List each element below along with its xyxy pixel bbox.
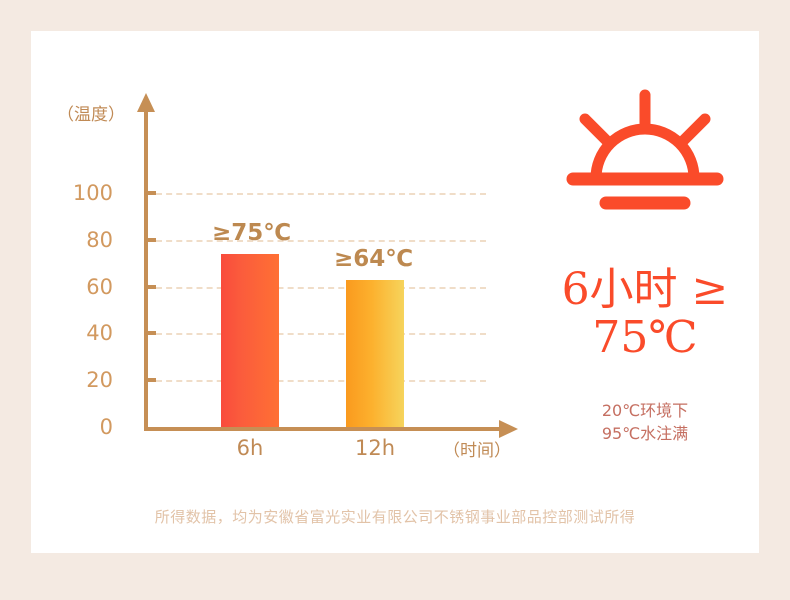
x-axis-line <box>144 427 502 431</box>
headline-line-1: 6小时 ≥ <box>531 266 759 314</box>
subnote: 20℃环境下 95℃水注满 <box>531 399 759 445</box>
bar-12h <box>346 280 404 427</box>
y-axis-tick-label-wrap: 0 <box>53 427 119 451</box>
headline-line-2: 75℃ <box>531 314 759 362</box>
content-panel: （温度） （时间） 020406080100 ≥75℃6h≥64℃12h <box>31 31 759 553</box>
sunrise-icon <box>559 89 731 216</box>
bar-6h <box>221 254 279 427</box>
subnote-line-1: 20℃环境下 <box>531 399 759 422</box>
bar-value-label: ≥75℃ <box>212 220 291 246</box>
x-axis-tick-label: 6h <box>210 436 290 460</box>
bar-chart: （温度） （时间） 020406080100 ≥75℃6h≥64℃12h <box>31 31 551 501</box>
subnote-line-2: 95℃水注满 <box>531 422 759 445</box>
x-axis-title: （时间） <box>443 436 511 461</box>
page-frame: （温度） （时间） 020406080100 ≥75℃6h≥64℃12h <box>0 0 790 600</box>
bar-value-label: ≥64℃ <box>334 246 413 272</box>
headline: 6小时 ≥ 75℃ <box>531 266 759 361</box>
source-caption: 所得数据，均为安徽省富光实业有限公司不锈钢事业部品控部测试所得 <box>31 506 759 527</box>
x-axis-tick-label: 12h <box>335 436 415 460</box>
right-panel: 6小时 ≥ 75℃ 20℃环境下 95℃水注满 <box>531 61 759 501</box>
